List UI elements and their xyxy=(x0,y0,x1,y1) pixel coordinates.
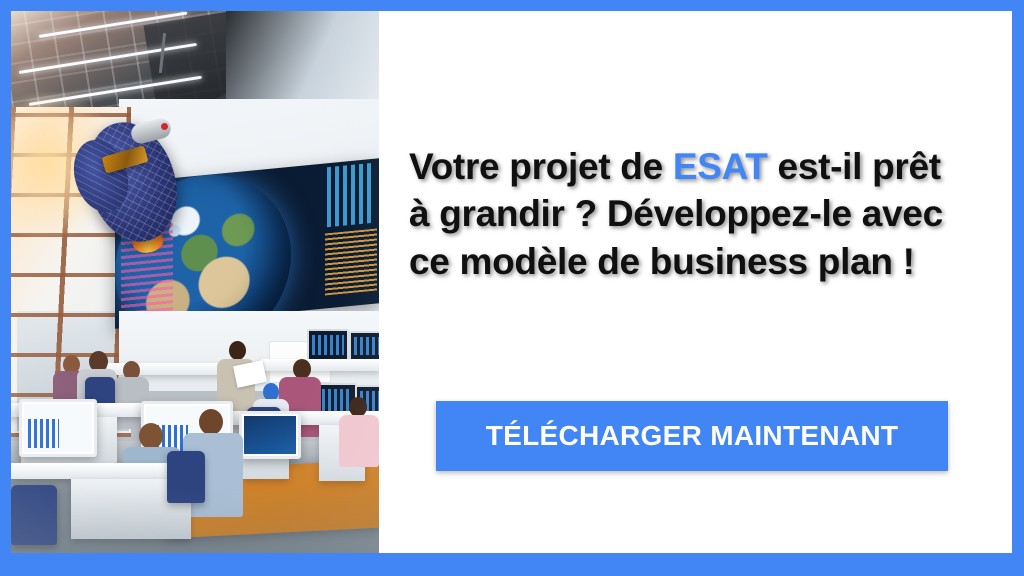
content-panel: Votre projet de ESAT est-il prêt à grand… xyxy=(379,11,1012,553)
photo-vignette xyxy=(11,11,379,553)
control-room-photo xyxy=(11,11,379,553)
headline-accent-esat: ESAT xyxy=(673,146,768,187)
promo-banner: Votre projet de ESAT est-il prêt à grand… xyxy=(0,0,1024,576)
download-now-button[interactable]: TÉLÉCHARGER MAINTENANT xyxy=(436,401,948,471)
banner-inner: Votre projet de ESAT est-il prêt à grand… xyxy=(11,11,1012,553)
headline: Votre projet de ESAT est-il prêt à grand… xyxy=(409,143,969,285)
headline-part1: Votre projet de xyxy=(409,146,673,187)
download-now-button-label: TÉLÉCHARGER MAINTENANT xyxy=(486,420,899,452)
